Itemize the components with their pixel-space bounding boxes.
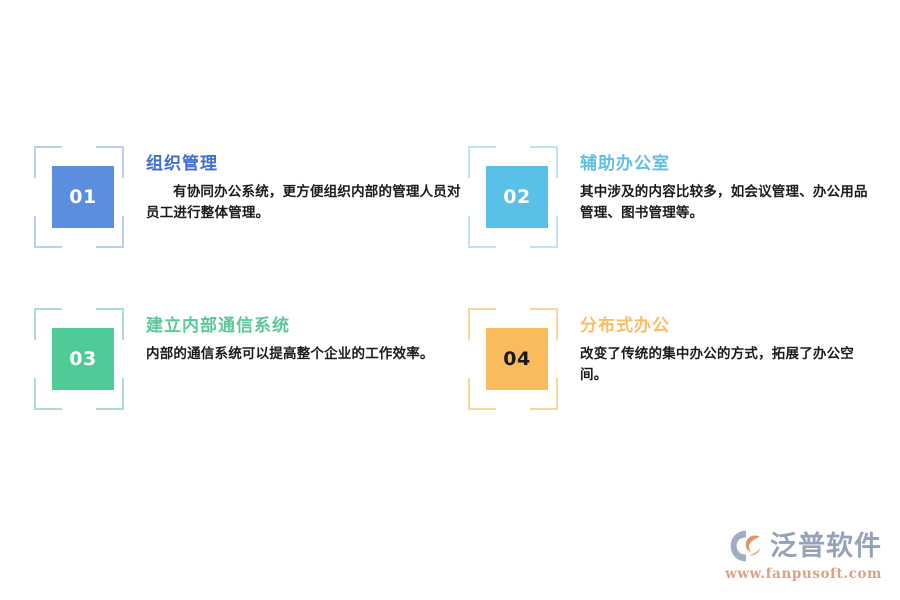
card-body: 内部的通信系统可以提高整个企业的工作效率。	[146, 344, 468, 365]
frame-segment	[468, 308, 496, 310]
frame-segment	[122, 378, 124, 410]
frame-segment	[96, 308, 124, 310]
frame-segment	[122, 216, 124, 248]
frame-segment	[34, 216, 36, 248]
frame-segment	[556, 216, 558, 248]
frame-segment	[530, 246, 558, 248]
card-number-badge: 01	[52, 166, 114, 228]
frame-segment	[468, 308, 470, 340]
frame-segment	[530, 408, 558, 410]
fanpu-swirl-logo-icon	[729, 529, 763, 563]
frame-segment	[530, 146, 558, 148]
card-title: 辅助办公室	[580, 154, 880, 174]
frame-segment	[468, 146, 496, 148]
watermark: 泛普软件 www.fanpusoft.com	[725, 529, 882, 582]
card-number-badge: 03	[52, 328, 114, 390]
frame-segment	[468, 408, 496, 410]
card-title: 组织管理	[146, 154, 468, 174]
frame-segment	[468, 146, 470, 178]
frame-segment	[468, 216, 470, 248]
frame-segment	[96, 146, 124, 148]
card-body: 改变了传统的集中办公的方式，拓展了办公空间。	[580, 344, 880, 386]
watermark-brand-row: 泛普软件	[729, 529, 882, 563]
frame-segment	[34, 378, 36, 410]
watermark-brand-text: 泛普软件	[770, 533, 882, 560]
card-text-block: 建立内部通信系统 内部的通信系统可以提高整个企业的工作效率。	[146, 316, 468, 365]
frame-segment	[34, 246, 62, 248]
frame-segment	[34, 308, 36, 340]
frame-segment	[122, 146, 124, 178]
card-body: 其中涉及的内容比较多，如会议管理、办公用品管理、图书管理等。	[580, 182, 880, 224]
frame-segment	[34, 146, 36, 178]
card-text-block: 组织管理 有协同办公系统，更方便组织内部的管理人员对员工进行整体管理。	[146, 154, 468, 224]
frame-segment	[122, 308, 124, 340]
card-number-badge: 02	[486, 166, 548, 228]
slide-canvas: 01 组织管理 有协同办公系统，更方便组织内部的管理人员对员工进行整体管理。 0…	[0, 0, 900, 600]
card-title: 分布式办公	[580, 316, 880, 336]
card-title: 建立内部通信系统	[146, 316, 468, 336]
watermark-url: www.fanpusoft.com	[725, 566, 882, 582]
frame-segment	[556, 378, 558, 410]
frame-segment	[34, 308, 62, 310]
frame-segment	[468, 246, 496, 248]
frame-segment	[34, 146, 62, 148]
frame-segment	[468, 378, 470, 410]
card-text-block: 辅助办公室 其中涉及的内容比较多，如会议管理、办公用品管理、图书管理等。	[580, 154, 880, 224]
card-body: 有协同办公系统，更方便组织内部的管理人员对员工进行整体管理。	[146, 182, 468, 224]
frame-segment	[34, 408, 62, 410]
frame-segment	[96, 246, 124, 248]
frame-segment	[556, 146, 558, 178]
frame-segment	[96, 408, 124, 410]
card-number-badge: 04	[486, 328, 548, 390]
card-text-block: 分布式办公 改变了传统的集中办公的方式，拓展了办公空间。	[580, 316, 880, 386]
frame-segment	[530, 308, 558, 310]
frame-segment	[556, 308, 558, 340]
